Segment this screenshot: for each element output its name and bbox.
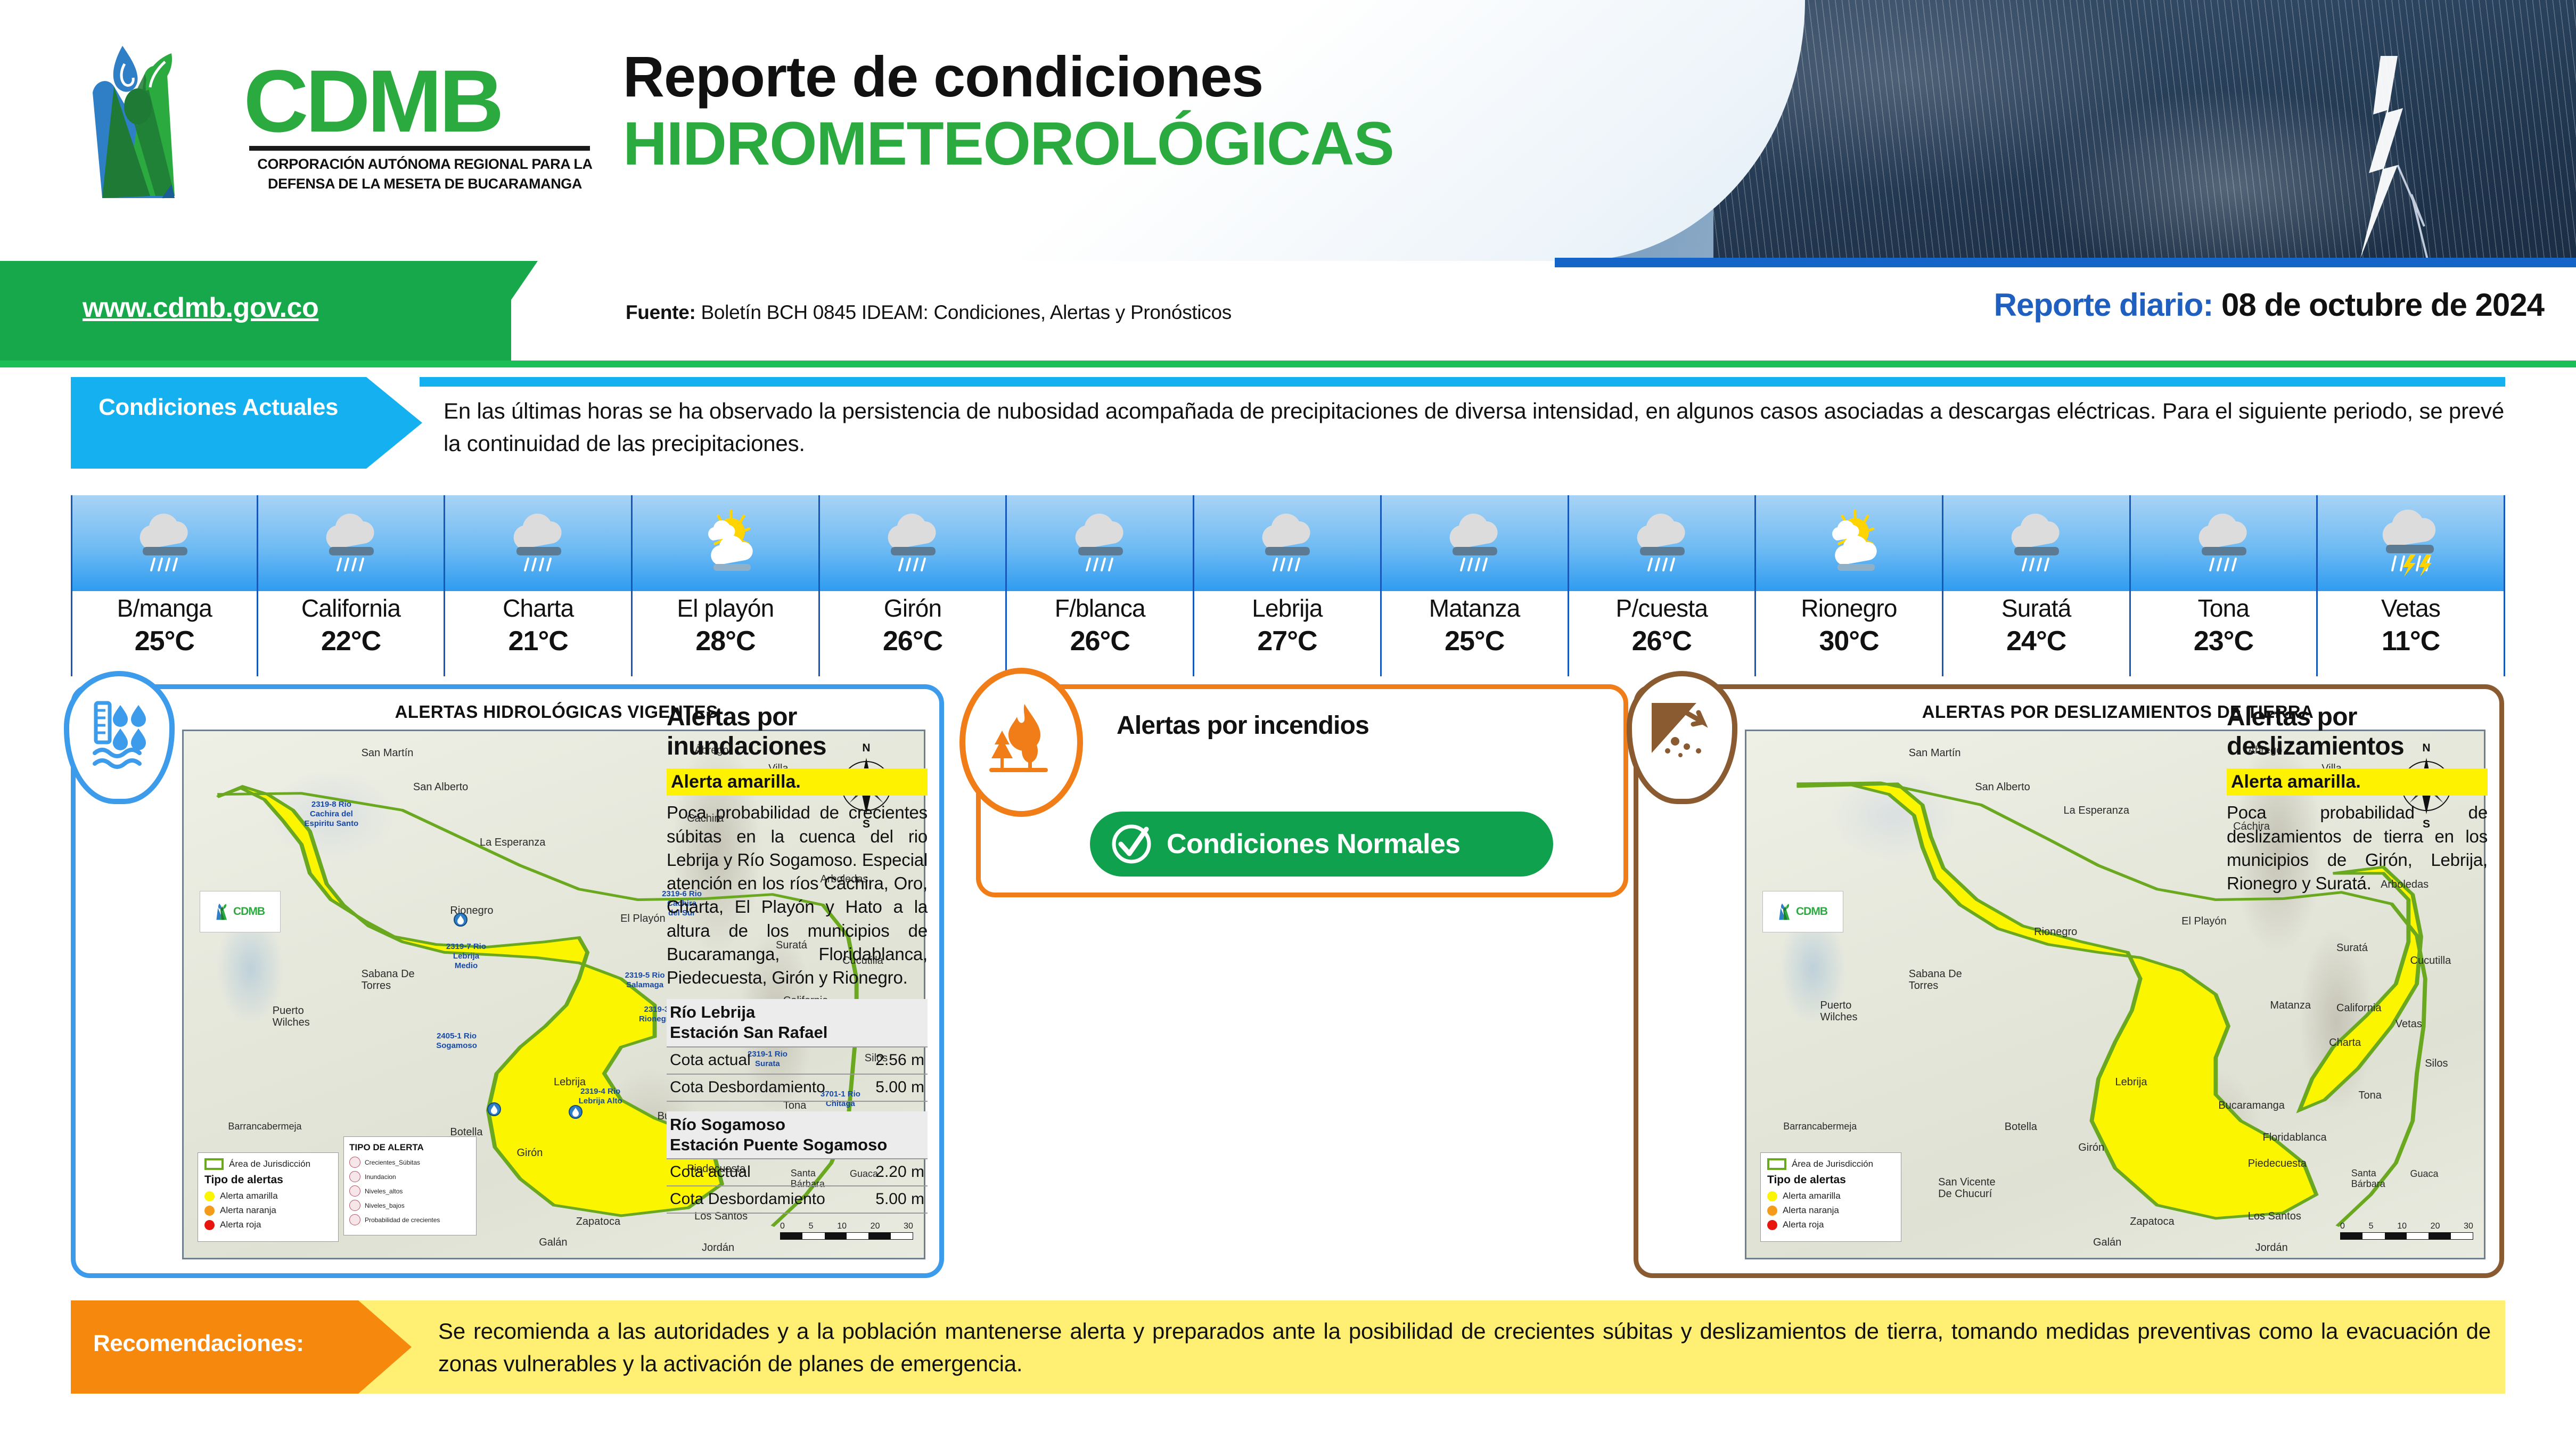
- sun-cloud-icon: [1809, 507, 1889, 579]
- map-place-label: Galán: [539, 1237, 567, 1249]
- scale-tick: 30: [904, 1222, 913, 1231]
- weather-icon-box: [1569, 495, 1757, 591]
- map-place-label: Guaca: [2410, 1168, 2439, 1180]
- lightning-bolt-icon: [2318, 51, 2440, 261]
- station-name: Estación San Rafael: [670, 1022, 924, 1043]
- weather-icon-box: [1382, 495, 1569, 591]
- alert-orange-label: Alerta naranja: [1783, 1205, 1839, 1216]
- forest-fire-icon: [984, 700, 1059, 785]
- landslide-alert-text: Alertas por deslizamientos Alerta amaril…: [2227, 703, 2488, 895]
- map-place-label: San Alberto: [413, 781, 468, 793]
- rain-cloud-icon: [1434, 507, 1514, 579]
- rain-cloud-icon: [1060, 507, 1140, 579]
- alert-orange-dot: [1767, 1206, 1777, 1216]
- station-row-label: Cota Desbordamiento: [670, 1078, 825, 1096]
- rain-cloud-icon: [1247, 507, 1327, 579]
- report-title-line1: Reporte de condiciones: [623, 43, 1393, 110]
- jurisdiction-swatch: [1767, 1158, 1786, 1170]
- weather-icon-box: [71, 495, 258, 591]
- alert-red-label: Alerta roja: [220, 1219, 261, 1230]
- flood-badge: [64, 671, 175, 804]
- alert-orange-label: Alerta naranja: [220, 1205, 276, 1216]
- cdmb-logo-mark-icon: [65, 42, 241, 201]
- map-place-label: La Esperanza: [480, 837, 545, 849]
- weather-city: Girón: [820, 593, 1006, 624]
- station-row: Cota Desbordamiento 5.00 m: [667, 1185, 928, 1214]
- weather-cell[interactable]: Lebrija 27°C: [1194, 495, 1382, 676]
- sun-cloud-icon: [685, 507, 765, 579]
- weather-icon-box: [445, 495, 633, 591]
- jurisdiction-label: Área de Jurisdicción: [1792, 1159, 1873, 1169]
- map-scalebar: 0 5 10 20 30: [780, 1222, 913, 1240]
- weather-temp: 26°C: [820, 625, 1006, 657]
- map-place-label: PuertoWilches: [273, 1005, 310, 1028]
- storm-photo: [1713, 0, 2576, 261]
- weather-label-box: B/manga 25°C: [71, 591, 258, 676]
- flood-alert-card: ALERTAS HIDROLÓGICAS VIGENTES San Martín…: [71, 684, 944, 1278]
- weather-cell[interactable]: Matanza 25°C: [1382, 495, 1569, 676]
- scale-tick: 10: [2397, 1222, 2407, 1231]
- station-block: Río Lebrija Estación San Rafael Cota act…: [667, 999, 928, 1102]
- weather-city: Tona: [2131, 593, 2317, 624]
- weather-label-box: Suratá 24°C: [1943, 591, 2131, 676]
- logo-divider: [249, 146, 590, 151]
- map-place-label: Rionegro: [2034, 926, 2077, 938]
- station-name: Estación Puente Sogamoso: [670, 1135, 924, 1155]
- page-header: CDMB CORPORACIÓN AUTÓNOMA REGIONAL PARA …: [0, 0, 2576, 261]
- thunderstorm-icon: [2371, 507, 2451, 579]
- cdmb-subtitle-line2: DEFENSA DE LA MESETA DE BUCARAMANGA: [249, 174, 601, 194]
- legend-types-head: Tipo de alertas: [204, 1174, 332, 1186]
- map-place-label: San Martín: [1909, 747, 1961, 759]
- crecientes-subitas-icon: [349, 1157, 360, 1168]
- map-station-marker: [487, 1102, 501, 1116]
- map-place-label: Jordán: [702, 1242, 734, 1254]
- weather-city: Matanza: [1382, 593, 1568, 624]
- station-header: Río Sogamoso Estación Puente Sogamoso: [667, 1111, 928, 1159]
- alert-panels-row: ALERTAS HIDROLÓGICAS VIGENTES San Martín…: [71, 684, 2505, 1281]
- flood-alert-text: Alertas por inundaciones Alerta amarilla…: [667, 703, 928, 1214]
- report-date-label: Reporte diario:: [1994, 287, 2213, 323]
- weather-city: Vetas: [2318, 593, 2504, 624]
- map-scalebar: 0 5 10 20 30: [2340, 1222, 2473, 1240]
- alert-type-row: Probabilidad de crecientes: [349, 1214, 471, 1225]
- legend-jurisdiction-row: Área de Jurisdicción: [204, 1158, 332, 1170]
- map-place-label: Galán: [2093, 1237, 2121, 1249]
- legend-type-row: Alerta naranja: [204, 1205, 332, 1216]
- weather-label-box: Lebrija 27°C: [1194, 591, 1382, 676]
- inundacion-icon: [349, 1171, 360, 1182]
- landslide-alert-level: Alerta amarilla.: [2227, 768, 2488, 796]
- map-station-marker: [569, 1105, 583, 1119]
- map-legend: Área de Jurisdicción Tipo de alertas Ale…: [198, 1152, 339, 1242]
- station-row-label: Cota actual: [670, 1051, 751, 1069]
- station-row-label: Cota actual: [670, 1163, 751, 1181]
- scale-tick: 0: [780, 1222, 785, 1231]
- rain-cloud-icon: [1622, 507, 1702, 579]
- alert-red-dot: [204, 1220, 215, 1230]
- map-place-label: Jordán: [2255, 1242, 2288, 1254]
- weather-cell[interactable]: El playón 28°C: [633, 495, 820, 676]
- map-cdmb-logo: CDMB: [1762, 891, 1843, 932]
- report-title: Reporte de condiciones HIDROMETEOROLÓGIC…: [623, 43, 1393, 178]
- map-river-code: 2319-7 RioLebrijaMedio: [443, 942, 490, 971]
- fire-alert-heading: Alertas por incendios: [1117, 711, 1369, 741]
- weather-temp: 24°C: [1943, 625, 2129, 657]
- map-place-label: San Martín: [362, 747, 414, 759]
- niveles-altos-icon: [349, 1185, 360, 1197]
- rain-cloud-icon: [498, 507, 578, 579]
- map-place-label: Suratá: [2336, 942, 2368, 954]
- weather-label-box: El playón 28°C: [633, 591, 820, 676]
- scalebar-graphic: [2340, 1232, 2473, 1240]
- alert-type-head: TIPO DE ALERTA: [349, 1142, 471, 1153]
- weather-temp: 21°C: [445, 625, 631, 657]
- legend-type-row: Alerta roja: [204, 1219, 332, 1230]
- map-place-label: Vetas: [2395, 1018, 2422, 1030]
- map-river-code: 2319-5 RioSalamaga: [620, 971, 669, 990]
- source-value: Boletín BCH 0845 IDEAM: Condiciones, Ale…: [701, 301, 1232, 323]
- weather-icon-box: [2131, 495, 2318, 591]
- landslide-icon: [1647, 698, 1717, 777]
- map-place-label: El Playón: [2181, 915, 2227, 928]
- probabilidad-crecientes-icon: [349, 1214, 360, 1225]
- recommendations-tab: Recomendaciones:: [71, 1300, 412, 1394]
- scale-tick: 10: [837, 1222, 847, 1231]
- map-river-code: 2405-1 RioSogamoso: [436, 1032, 478, 1051]
- map-river-code: 2319-4 RioLebrija Alto: [576, 1087, 625, 1106]
- water-level-gauge-icon: [87, 698, 151, 777]
- weather-city: Charta: [445, 593, 631, 624]
- alert-red-dot: [1767, 1220, 1777, 1230]
- weather-temp: 25°C: [1382, 625, 1568, 657]
- map-place-label: Sabana DeTorres: [362, 968, 415, 992]
- station-row: Cota actual 2.20 m: [667, 1158, 928, 1185]
- cdmb-mini-logo-icon: [216, 903, 231, 921]
- conditions-tab-label: Condiciones Actuales: [99, 393, 349, 422]
- alert-yellow-dot: [204, 1191, 215, 1201]
- weather-temp: 26°C: [1569, 625, 1755, 657]
- scalebar-graphic: [780, 1232, 913, 1240]
- map-place-label: Los Santos: [2248, 1210, 2301, 1223]
- weather-city: El playón: [633, 593, 818, 624]
- alert-type-row: Niveles_bajos: [349, 1200, 471, 1211]
- map-place-label: Girón: [2078, 1142, 2104, 1154]
- weather-icon-box: [633, 495, 820, 591]
- jurisdiction-label: Área de Jurisdicción: [229, 1159, 310, 1169]
- flood-alert-body: Poca probabilidad de crecientes súbitas …: [667, 801, 928, 989]
- station-row-label: Cota Desbordamiento: [670, 1190, 825, 1208]
- station-row: Cota actual 2.56 m: [667, 1046, 928, 1074]
- weather-cell[interactable]: Tona 23°C: [2131, 495, 2318, 676]
- map-place-label: Zapatoca: [576, 1216, 620, 1228]
- alert-type-label: Crecientes_Súbitas: [365, 1159, 420, 1166]
- weather-label-box: Vetas 11°C: [2318, 591, 2505, 676]
- map-place-label: SantaBárbara: [2351, 1168, 2385, 1190]
- map-logo-text: CDMB: [1796, 905, 1827, 918]
- flood-alert-heading: Alertas por inundaciones: [667, 703, 928, 761]
- map-place-label: Botella: [2005, 1121, 2037, 1133]
- source-label: Fuente:: [626, 301, 696, 323]
- alert-type-row: Inundacion: [349, 1171, 471, 1182]
- weather-icon-box: [2318, 495, 2505, 591]
- scale-tick: 0: [2340, 1222, 2345, 1231]
- station-row: Cota Desbordamiento 5.00 m: [667, 1074, 928, 1102]
- map-river-code: 2319-8 RioCachira delEspiritu Santo: [302, 800, 360, 829]
- weather-temp: 28°C: [633, 625, 818, 657]
- landslide-alert-body: Poca probabilidad de deslizamientos de t…: [2227, 801, 2488, 895]
- alert-type-row: Crecientes_Súbitas: [349, 1157, 471, 1168]
- weather-icon-box: [1756, 495, 1943, 591]
- rain-cloud-icon: [125, 507, 204, 579]
- weather-city: Rionegro: [1756, 593, 1942, 624]
- map-place-label: Bucaramanga: [2218, 1100, 2285, 1112]
- station-row-value: 2.56 m: [875, 1051, 924, 1069]
- rain-texture: [1713, 0, 2576, 261]
- recommendations-text: Se recomienda a las autoridades y a la p…: [438, 1315, 2491, 1380]
- scale-tick: 5: [809, 1222, 814, 1231]
- check-circle-icon: [1108, 821, 1155, 867]
- map-cdmb-logo: CDMB: [200, 891, 281, 932]
- weather-cell[interactable]: Girón 26°C: [820, 495, 1007, 676]
- niveles-bajos-icon: [349, 1200, 360, 1211]
- map-place-label: Lebrija: [2115, 1076, 2147, 1088]
- jurisdiction-swatch: [204, 1158, 224, 1170]
- scalebar-ticks: 0 5 10 20 30: [780, 1222, 913, 1231]
- map-place-label: Barrancabermeja: [1783, 1121, 1857, 1132]
- weather-temp: 23°C: [2131, 625, 2317, 657]
- website-link[interactable]: www.cdmb.gov.co: [83, 292, 318, 324]
- weather-city: F/blanca: [1007, 593, 1193, 624]
- weather-cell[interactable]: B/manga 25°C: [71, 495, 258, 676]
- station-row-value: 5.00 m: [875, 1190, 924, 1208]
- weather-cell[interactable]: Charta 21°C: [445, 495, 633, 676]
- cdmb-subtitle: CORPORACIÓN AUTÓNOMA REGIONAL PARA LA DE…: [249, 154, 601, 193]
- cdmb-mini-logo-icon: [1778, 903, 1793, 921]
- map-station-marker: [454, 913, 467, 927]
- weather-icon-box: [1194, 495, 1382, 591]
- conditions-top-rule: [420, 377, 2505, 387]
- weather-icon-box: [258, 495, 446, 591]
- fire-badge: [959, 668, 1083, 817]
- alert-yellow-dot: [1767, 1191, 1777, 1201]
- map-place-label: San VicenteDe Chucurí: [1938, 1176, 1996, 1200]
- weather-city: B/manga: [72, 593, 257, 624]
- report-date-value: 08 de octubre de 2024: [2221, 287, 2544, 323]
- blue-accent-line: [1555, 258, 2576, 267]
- weather-city: Suratá: [1943, 593, 2129, 624]
- map-place-label: San Alberto: [1975, 781, 2030, 793]
- weather-label-box: Rionegro 30°C: [1756, 591, 1943, 676]
- station-row-value: 5.00 m: [875, 1078, 924, 1096]
- map-place-label: Matanza: [2270, 1000, 2311, 1012]
- map-place-label: Girón: [517, 1147, 543, 1159]
- conditions-text: En las últimas horas se ha observado la …: [444, 395, 2504, 460]
- rain-cloud-icon: [2184, 507, 2263, 579]
- legend-type-row: Alerta amarilla: [204, 1191, 332, 1201]
- rain-cloud-icon: [1996, 507, 2076, 579]
- map-place-label: Cucutilla: [2410, 955, 2451, 967]
- weather-label-box: Matanza 25°C: [1382, 591, 1569, 676]
- alert-type-label: Probabilidad de crecientes: [365, 1216, 440, 1224]
- legend-types-head: Tipo de alertas: [1767, 1174, 1894, 1186]
- weather-label-box: Girón 26°C: [820, 591, 1007, 676]
- weather-icon-box: [1943, 495, 2131, 591]
- green-underline: [0, 361, 2576, 367]
- scale-tick: 20: [871, 1222, 880, 1231]
- fire-status-badge: Condiciones Normales: [1090, 812, 1553, 877]
- station-river: Río Sogamoso: [670, 1115, 924, 1135]
- weather-label-box: California 22°C: [258, 591, 446, 676]
- legend-type-row: Alerta naranja: [1767, 1205, 1894, 1216]
- weather-cell[interactable]: P/cuesta 26°C: [1569, 495, 1757, 676]
- alert-yellow-label: Alerta amarilla: [1783, 1191, 1841, 1201]
- weather-temp: 27°C: [1194, 625, 1380, 657]
- info-bar: www.cdmb.gov.co Fuente: Boletín BCH 0845…: [0, 261, 2576, 362]
- landslide-alert-heading: Alertas por deslizamientos: [2227, 703, 2488, 761]
- weather-cell[interactable]: California 22°C: [258, 495, 446, 676]
- fire-alert-card: Alertas por incendios Condiciones Normal…: [976, 684, 1628, 897]
- map-alert-type-legend: TIPO DE ALERTA Crecientes_Súbitas Inunda…: [343, 1136, 477, 1235]
- rain-cloud-icon: [311, 507, 391, 579]
- weather-label-box: Tona 23°C: [2131, 591, 2318, 676]
- rain-cloud-icon: [873, 507, 953, 579]
- map-place-label: Sabana DeTorres: [1909, 968, 1962, 992]
- weather-city: California: [258, 593, 444, 624]
- current-conditions-section: Condiciones Actuales En las últimas hora…: [71, 373, 2505, 469]
- report-title-line2: HIDROMETEOROLÓGICAS: [623, 110, 1393, 178]
- fire-status-label: Condiciones Normales: [1167, 828, 1460, 860]
- map-place-label: Zapatoca: [2130, 1216, 2174, 1228]
- scalebar-ticks: 0 5 10 20 30: [2340, 1222, 2473, 1231]
- station-row-value: 2.20 m: [875, 1163, 924, 1181]
- recommendations-section: Recomendaciones: Se recomienda a las aut…: [71, 1300, 2505, 1394]
- map-place-label: Tona: [2359, 1090, 2382, 1102]
- map-place-label: Floridablanca: [2263, 1132, 2327, 1144]
- alert-type-label: Niveles_bajos: [365, 1202, 405, 1209]
- map-place-label: Charta: [2329, 1037, 2361, 1049]
- map-place-label: PuertoWilches: [1820, 1000, 1858, 1023]
- scale-tick: 20: [2431, 1222, 2440, 1231]
- weather-icon-box: [820, 495, 1007, 591]
- map-place-label: Silos: [2425, 1058, 2448, 1070]
- map-logo-text: CDMB: [233, 905, 265, 918]
- weather-temp: 26°C: [1007, 625, 1193, 657]
- map-place-label: Piedecuesta: [2248, 1158, 2307, 1170]
- landslide-alert-card: ALERTAS POR DESLIZAMIENTOS DE TIERRA San…: [1634, 684, 2504, 1278]
- weather-cell[interactable]: Rionegro 30°C: [1756, 495, 1943, 676]
- recommendations-tab-label: Recomendaciones:: [93, 1330, 303, 1357]
- weather-cell[interactable]: Vetas 11°C: [2318, 495, 2505, 676]
- source-text: Fuente: Boletín BCH 0845 IDEAM: Condicio…: [626, 301, 1232, 324]
- weather-city: P/cuesta: [1569, 593, 1755, 624]
- station-header: Río Lebrija Estación San Rafael: [667, 999, 928, 1046]
- alert-red-label: Alerta roja: [1783, 1219, 1824, 1230]
- legend-type-row: Alerta roja: [1767, 1219, 1894, 1230]
- alert-type-label: Inundacion: [365, 1173, 396, 1181]
- station-river: Río Lebrija: [670, 1002, 924, 1022]
- weather-temp: 22°C: [258, 625, 444, 657]
- cdmb-subtitle-line1: CORPORACIÓN AUTÓNOMA REGIONAL PARA LA: [249, 154, 601, 174]
- alert-yellow-label: Alerta amarilla: [220, 1191, 278, 1201]
- map-legend: Área de Jurisdicción Tipo de alertas Ale…: [1760, 1152, 1901, 1242]
- weather-city: Lebrija: [1194, 593, 1380, 624]
- cdmb-acronym: CDMB: [243, 51, 501, 152]
- weather-strip: B/manga 25°C California 22°C: [71, 495, 2505, 676]
- cdmb-logo: CDMB CORPORACIÓN AUTÓNOMA REGIONAL PARA …: [65, 42, 608, 212]
- alert-type-label: Niveles_altos: [365, 1188, 403, 1195]
- flood-alert-level: Alerta amarilla.: [667, 768, 928, 796]
- legend-type-row: Alerta amarilla: [1767, 1191, 1894, 1201]
- conditions-tab: Condiciones Actuales: [71, 377, 422, 469]
- map-place-label: California: [2336, 1002, 2381, 1014]
- scale-tick: 30: [2464, 1222, 2473, 1231]
- report-date-block: Reporte diario: 08 de octubre de 2024: [1994, 286, 2544, 323]
- weather-temp: 30°C: [1756, 625, 1942, 657]
- alert-orange-dot: [204, 1206, 215, 1216]
- legend-jurisdiction-row: Área de Jurisdicción: [1767, 1158, 1894, 1170]
- map-place-label: La Esperanza: [2064, 805, 2129, 817]
- scale-tick: 5: [2369, 1222, 2374, 1231]
- station-block: Río Sogamoso Estación Puente Sogamoso Co…: [667, 1111, 928, 1214]
- weather-cell[interactable]: Suratá 24°C: [1943, 495, 2131, 676]
- landslide-badge: [1627, 671, 1737, 804]
- weather-temp: 25°C: [72, 625, 257, 657]
- weather-label-box: P/cuesta 26°C: [1569, 591, 1757, 676]
- weather-temp: 11°C: [2318, 625, 2504, 657]
- weather-label-box: Charta 21°C: [445, 591, 633, 676]
- map-place-label: Barrancabermeja: [228, 1121, 301, 1132]
- weather-icon-box: [1007, 495, 1194, 591]
- weather-cell[interactable]: F/blanca 26°C: [1007, 495, 1194, 676]
- weather-label-box: F/blanca 26°C: [1007, 591, 1194, 676]
- alert-type-row: Niveles_altos: [349, 1185, 471, 1197]
